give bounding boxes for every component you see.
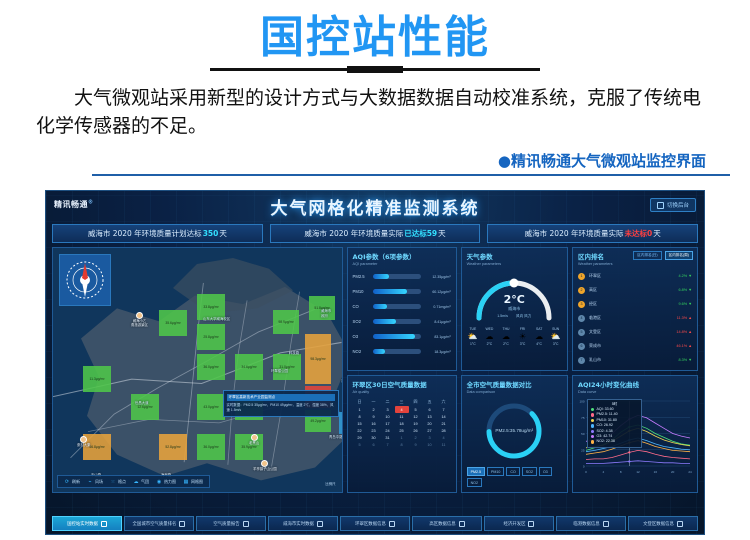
stat-suffix: 天 (219, 228, 227, 239)
ranking-list: 1环翠区4.2% ▼2高区6.8% ▼3经区9.6% ▼4临港区11.3% ▲5… (573, 267, 697, 371)
wind-speed: 1.5m/s (497, 314, 508, 319)
compare-panel-title: 全市空气质量数据对比 (467, 379, 562, 389)
aqi-param-bar (373, 289, 421, 294)
aqi-param-bar (373, 304, 421, 309)
stat-value: 已达标59 (403, 228, 438, 239)
bottom-tab-label: 经济开发区 (504, 521, 526, 527)
calendar-day[interactable]: 13 (423, 413, 437, 420)
calendar-day[interactable]: 4 (437, 434, 451, 441)
map-grid-cell[interactable]: 52.8μg/m³ (159, 434, 187, 460)
switch-backstage-button[interactable]: 切换后台 (650, 198, 696, 212)
aqi-param-bar (373, 319, 421, 324)
svg-text:100: 100 (579, 400, 584, 404)
forecast-temp: 4°C (531, 342, 548, 346)
bottom-tab-label: 临港数据信息 (573, 521, 599, 527)
calendar-weekday: 五 (423, 397, 437, 406)
calendar-weekday: 三 (395, 397, 409, 406)
calendar-day[interactable]: 8 (353, 413, 367, 420)
svg-text:4: 4 (602, 470, 604, 474)
bottom-tab[interactable]: 全国城市空气质量排名 (124, 516, 194, 531)
ranking-position: 8 (578, 371, 585, 372)
map-pin[interactable]: 老黑山 (249, 434, 259, 446)
aqi-param-value: 60.12μg/m³ (424, 290, 451, 294)
bottom-tab-label: 高区数据信息 (429, 521, 455, 527)
map-grid-cell[interactable]: 31.0μg/m³ (273, 354, 301, 380)
stat-suffix: 天 (438, 228, 446, 239)
ranking-position: 7 (578, 357, 585, 364)
tooltip-series-swatch (591, 440, 595, 444)
bottom-tab-label: 全国城市空气质量排名 (133, 521, 177, 527)
aqi-param-value: 8.41μg/m³ (424, 320, 451, 324)
page-lead-paragraph: 大气微观站采用新型的设计方式与大数据数据自动校准系统，克服了传统电化学传感器的不… (36, 85, 714, 140)
aqi-param-value: 0.71mg/m³ (424, 305, 451, 309)
ranking-change: 6.8% ▼ (679, 288, 692, 292)
aqi-parameter-row: PM1060.12μg/m³ (353, 284, 451, 299)
stat-bar-1: 威海市 2020 年环境质量计划达标350天 (52, 224, 263, 243)
ranking-city: 文登区 (589, 329, 676, 335)
forecast-day: WED☁2°C (481, 327, 498, 346)
page-header: 国控站性能 大气微观站采用新型的设计方式与大数据数据自动校准系统，克服了传统电化… (0, 0, 750, 176)
aqi-param-name: CO (353, 304, 373, 309)
map-place-label: 威海市 政府 (321, 308, 331, 318)
pollutant-chip[interactable]: SO2 (522, 467, 537, 476)
chart-title: AQI24小时变化曲线 (578, 379, 692, 389)
refresh-icon: ⟳ (64, 479, 70, 485)
tooltip-rows: AQI: 33.60PM2.5: 11.40PM10: 31.80CO: 26.… (591, 407, 638, 445)
expand-icon (179, 521, 185, 527)
forecast-day: TUE⛅1°C (465, 327, 482, 346)
calendar-day[interactable]: 5 (409, 406, 423, 413)
calendar-day[interactable]: 29 (353, 434, 367, 441)
map-tool-label: 网格图 (191, 479, 203, 485)
bottom-tab[interactable]: 文登区数据信息 (628, 516, 698, 531)
map-pin-label: 老黑山 (249, 442, 259, 446)
aqi-param-name: SO2 (353, 319, 373, 324)
map-place-label: 青岛中路 (329, 434, 343, 439)
caption-underline (92, 174, 730, 176)
aqi-panel-title: AQI参数（6项参数） (353, 251, 451, 261)
calendar-day[interactable]: 26 (409, 427, 423, 434)
backstage-label: 切换后台 (667, 201, 689, 209)
weather-city: 威海市 (462, 306, 567, 312)
map-grid-cell[interactable]: 36.0μg/m³ (197, 434, 225, 460)
page-caption: ●精讯畅通大气微观站监控界面 (0, 150, 706, 171)
aqi-parameter-list: PM2.512.35μg/m³PM1060.12μg/m³CO0.71mg/m³… (348, 267, 456, 359)
bottom-tab[interactable]: 高区数据信息 (412, 516, 482, 531)
expand-icon (317, 521, 323, 527)
aqi-parameter-row: PM2.512.35μg/m³ (353, 269, 451, 284)
aqi-parameter-row: CO0.71mg/m³ (353, 299, 451, 314)
chart-series-SO2 (586, 461, 690, 464)
svg-text:25: 25 (581, 448, 585, 452)
calendar-panel-title: 环翠区30日空气质量数据 (353, 379, 451, 389)
weather-sub-metrics: 1.5m/s 风向 风力 (462, 314, 567, 319)
calendar-weekday: 四 (409, 397, 423, 406)
aqi-param-value: 18.3μg/m³ (424, 350, 451, 354)
bottom-tab[interactable]: 经济开发区 (484, 516, 554, 531)
calendar-day[interactable]: 25 (395, 427, 409, 434)
bottom-tab-label: 空气质量报告 (213, 521, 239, 527)
aqi-param-bar-fill (373, 334, 415, 339)
pollutant-chip-row: PM2.5PM10COSO2O3NO2 (462, 467, 567, 491)
stat-prefix: 威海市 2020 年环境质量计划达标 (88, 228, 202, 239)
weather-panel-subtitle: Weather parameters (467, 262, 562, 266)
cloud-icon: ☁ (498, 331, 515, 342)
tooltip-series-swatch (591, 424, 595, 428)
svg-text:24: 24 (688, 470, 692, 474)
calendar-day[interactable]: 11 (437, 441, 451, 448)
bottom-tab[interactable]: 环翠区数据信息 (340, 516, 410, 531)
svg-text:75: 75 (581, 416, 585, 420)
calendar-week: 567891011 (353, 441, 451, 448)
tooltip-series-value: NO2: 22.38 (596, 439, 614, 444)
map-scale-label: 比例尺 (325, 481, 335, 486)
grid-point-icon: ⁙ (110, 479, 116, 485)
calendar-weekday: 一 (367, 397, 381, 406)
forecast-temp: 1°C (465, 342, 482, 346)
calendar-day[interactable]: 27 (423, 427, 437, 434)
current-temperature: 2°C (462, 293, 567, 306)
map-tool-网格图[interactable]: ▦网格图 (183, 479, 203, 485)
cloud-icon: ☁ (531, 331, 548, 342)
map-grid-cell[interactable]: 12.6μg/m³ (131, 394, 159, 420)
stat-bar-row: 威海市 2020 年环境质量计划达标350天威海市 2020 年环境质量实际已达… (46, 224, 704, 243)
weather-panel-header: 天气参数 Weather parameters (462, 248, 567, 267)
aqi-parameter-row: O383.1μg/m³ (353, 329, 451, 344)
map-tool-气团[interactable]: ☁气团 (133, 479, 149, 485)
map-pin-icon (251, 434, 258, 441)
map-place-label: 科技路 (289, 350, 299, 355)
svg-text:20: 20 (671, 470, 675, 474)
map-pin-icon (80, 436, 87, 443)
expand-icon (101, 521, 107, 527)
map-pin-label: 张村大集 (77, 444, 91, 448)
dashboard-body: 11.3μg/m³35.6μg/m³33.8μg/m³25.8μg/m³36.0… (46, 243, 704, 493)
aqi-param-name: PM2.5 (353, 274, 373, 279)
aqi-column: AQI参数（6项参数） AQI parameter PM2.512.35μg/m… (347, 247, 457, 493)
map-grid-cell[interactable]: 35.6μg/m³ (159, 310, 187, 336)
temperature-gauge: 2°C 威海市 1.5m/s 风向 风力 (462, 267, 567, 325)
wind-direction: 风向 风力 (516, 314, 531, 319)
dashboard-header: 精讯畅通® 大气网格化精准监测系统 切换后台 (46, 191, 704, 221)
calendar-day[interactable]: 7 (437, 406, 451, 413)
ranking-tab[interactable]: 区内排名(日) (633, 251, 661, 260)
calendar-day[interactable]: 20 (423, 420, 437, 427)
map-tool-label: 气团 (141, 479, 149, 485)
aqi-parameter-row: NO218.3μg/m³ (353, 344, 451, 359)
calendar[interactable]: 日一二三四五六123456789101112131415161718192021… (348, 395, 456, 451)
map-toolbar: ⟳刷新⌁风场⁙格点☁气团◉热力图▦网格图 (57, 475, 210, 488)
pollutant-chip[interactable]: NO2 (467, 478, 482, 487)
calendar-week: 891011121314 (353, 413, 451, 420)
map-pin-label: 羊亭镇子山公园 (253, 468, 277, 472)
compare-donut-value: PM2.5:35.78ug/m³ (462, 428, 567, 433)
calendar-day[interactable]: 2 (409, 434, 423, 441)
chart-panel-header: AQI24小时变化曲线 Data curve (573, 376, 697, 395)
wind-icon: ⌁ (87, 479, 93, 485)
map-grid-cell[interactable]: 34.6μg/m³ (235, 354, 263, 380)
calendar-day[interactable]: 11 (395, 413, 409, 420)
calendar-day[interactable]: 14 (437, 413, 451, 420)
stat-prefix: 威海市 2020 年环境质量实际 (525, 228, 624, 239)
calendar-week: 22232425262728 (353, 427, 451, 434)
map-tool-label: 热力图 (164, 479, 176, 485)
map-tool-label: 刷新 (72, 479, 80, 485)
bottom-tab-label: 文登区数据信息 (643, 521, 674, 527)
info-card-body: 实时数据：PM2.5 35μg/m³，PM10 49μg/m³，温度 2℃，湿度… (227, 403, 335, 413)
calendar-weekday: 六 (437, 397, 451, 406)
calendar-day[interactable]: 28 (437, 427, 451, 434)
stat-bar-3: 威海市 2020 年环境质量实际未达标0天 (487, 224, 698, 243)
calendar-day[interactable]: 3 (423, 434, 437, 441)
ranking-position: 4 (578, 315, 585, 322)
map-pin[interactable]: 羊亭镇子山公园 (253, 460, 277, 472)
map-place-label: 海滨路 (341, 378, 343, 383)
map-grid-cell[interactable]: 98.9μg/m³ (273, 310, 299, 334)
expand-icon (389, 521, 395, 527)
forecast-day: SAT☁4°C (531, 327, 548, 346)
calendar-day[interactable]: 10 (381, 413, 395, 420)
ranking-position: 6 (578, 343, 585, 350)
calendar-day[interactable]: 7 (381, 441, 395, 448)
stat-value: 350 (202, 229, 220, 238)
aqi-param-bar (373, 274, 421, 279)
aqi-24h-chart-panel: AQI24小时变化曲线 Data curve 02550751000481216… (572, 375, 698, 493)
calendar-day[interactable]: 6 (423, 406, 437, 413)
map-tool-label: 风场 (95, 479, 103, 485)
calendar-week: 15161718192021 (353, 420, 451, 427)
ranking-position: 5 (578, 329, 585, 336)
ranking-position: 2 (578, 287, 585, 294)
calendar-day[interactable]: 24 (381, 427, 395, 434)
bottom-tab-bar: 国控站实时数据全国城市空气质量排名空气质量报告威海市实时数据环翠区数据信息高区数… (46, 516, 704, 531)
calendar-day[interactable]: 23 (367, 427, 381, 434)
dashboard-screenshot: 精讯畅通® 大气网格化精准监测系统 切换后台 威海市 2020 年环境质量计划达… (45, 190, 705, 535)
weather-panel-title: 天气参数 (467, 251, 562, 261)
calendar-day[interactable]: 6 (367, 441, 381, 448)
ranking-change: 4.2% ▼ (679, 274, 692, 278)
compare-panel-header: 全市空气质量数据对比 Data comparison (462, 376, 567, 395)
aqi-param-bar (373, 349, 421, 354)
grid-monitoring-map[interactable]: 11.3μg/m³35.6μg/m³33.8μg/m³25.8μg/m³36.0… (52, 247, 343, 493)
calendar-day[interactable]: 9 (409, 441, 423, 448)
compare-panel: 全市空气质量数据对比 Data comparison PM2.5:35.78ug… (461, 375, 568, 493)
aqi-parameters-panel: AQI参数（6项参数） AQI parameter PM2.512.35μg/m… (347, 247, 457, 371)
weather-panel: 天气参数 Weather parameters 2°C 威海市 1.5m/s 风… (461, 247, 568, 371)
calendar-panel-subtitle: Air quality (353, 390, 451, 394)
map-tool-刷新[interactable]: ⟳刷新 (64, 479, 80, 485)
ranking-row[interactable]: 8里口山6.9% ▼ (578, 367, 692, 371)
aqi-param-bar-fill (373, 289, 408, 294)
calendar-panel: 环翠区30日空气质量数据 Air quality 日一二三四五六12345678… (347, 375, 457, 493)
aqi-param-bar (373, 334, 421, 339)
forecast-day: SUN⛅3°C (547, 327, 564, 346)
map-pin[interactable]: 威海小乙 角旅游景区 (131, 312, 148, 328)
tooltip-series-swatch (591, 435, 595, 439)
ranking-city: 乳山市 (589, 357, 679, 363)
aqi-param-bar-fill (373, 304, 387, 309)
calendar-day[interactable]: 16 (367, 420, 381, 427)
svg-text:0: 0 (583, 465, 585, 469)
expand-icon (603, 521, 609, 527)
calendar-day[interactable]: 15 (353, 420, 367, 427)
map-pin-label: 威海小乙 角旅游景区 (131, 320, 148, 328)
map-grid-cell[interactable]: 44.1μg/m³ (339, 412, 343, 434)
calendar-day[interactable]: 10 (423, 441, 437, 448)
chart-subtitle: Data curve (578, 390, 692, 394)
ranking-change: 8.3% ▼ (679, 358, 692, 362)
map-tool-热力图[interactable]: ◉热力图 (156, 479, 176, 485)
map-grid-cell[interactable]: 25.8μg/m³ (197, 324, 225, 350)
chart-area[interactable]: 025507510004812162024 5时 AQI: 33.60PM2.5… (573, 395, 697, 480)
cloud-icon: ☁ (133, 479, 139, 485)
pollutant-chip[interactable]: CO (506, 467, 519, 476)
bottom-tab[interactable]: 威海市实时数据 (268, 516, 338, 531)
calendar-week: 2930311234 (353, 434, 451, 441)
stat-value: 未达标0 (624, 228, 654, 239)
page-caption-text: 精讯畅通大气微观站监控界面 (511, 152, 706, 170)
cloud-sun-icon: ⛅ (547, 331, 564, 342)
aqi-param-name: PM10 (353, 289, 373, 294)
calendar-day[interactable]: 17 (381, 420, 395, 427)
calendar-weekday: 日 (353, 397, 367, 406)
ranking-position: 3 (578, 301, 585, 308)
map-grid-cell[interactable]: 98.3μg/m³ (305, 334, 331, 384)
aqi-param-value: 12.35μg/m³ (424, 275, 451, 279)
calendar-panel-header: 环翠区30日空气质量数据 Air quality (348, 376, 456, 395)
calendar-day[interactable]: 1 (395, 434, 409, 441)
map-place-label: 山东大学威海校区 (203, 316, 230, 321)
dashboard-title: 大气网格化精准监测系统 (46, 194, 704, 219)
calendar-day[interactable]: 21 (437, 420, 451, 427)
calendar-day[interactable]: 2 (367, 406, 381, 413)
map-column: 11.3μg/m³35.6μg/m³33.8μg/m³25.8μg/m³36.0… (52, 247, 343, 493)
bullet-icon: ● (498, 152, 511, 170)
calendar-day[interactable]: 30 (367, 434, 381, 441)
expand-icon (677, 521, 683, 527)
tooltip-series-swatch (591, 419, 595, 423)
calendar-day[interactable]: 22 (353, 427, 367, 434)
calendar-day[interactable]: 19 (409, 420, 423, 427)
tooltip-series-swatch (591, 430, 595, 434)
ranking-row[interactable]: 7乳山市8.3% ▼ (578, 353, 692, 367)
bottom-tab-label: 环翠区数据信息 (355, 521, 386, 527)
tooltip-series-swatch (591, 408, 595, 412)
calendar-day[interactable]: 1 (353, 406, 367, 413)
bottom-tab-label: 威海市实时数据 (283, 521, 314, 527)
pollutant-chip[interactable]: PM2.5 (467, 467, 485, 476)
ranking-city: 环翠区 (589, 273, 679, 279)
ranking-position: 1 (578, 273, 585, 280)
map-pin-icon (261, 460, 268, 467)
ranking-row[interactable]: 5文登区14.8% ▲ (578, 325, 692, 339)
sun-icon: ☀ (514, 331, 531, 342)
right-column: 区内排名 Weather parameters 区内排名(日)区内排名(周) 1… (572, 247, 698, 493)
forecast-day: FRI☀3°C (514, 327, 531, 346)
forecast-day: THU☁2°C (498, 327, 515, 346)
ranking-row[interactable]: 6荣成市46.1% ▲ (578, 339, 692, 353)
expand-icon (243, 521, 249, 527)
calendar-day[interactable]: 18 (395, 420, 409, 427)
ranking-change: 9.6% ▼ (679, 302, 692, 306)
aqi-parameter-row: SO28.41μg/m³ (353, 314, 451, 329)
tooltip-row: NO2: 22.38 (591, 439, 638, 444)
aqi-param-name: NO2 (353, 349, 373, 354)
map-place-label: 世昌大道 (135, 400, 149, 405)
ranking-city: 荣成市 (589, 343, 676, 349)
map-pin[interactable]: 张村大集 (77, 436, 91, 448)
aqi-param-value: 83.1μg/m³ (424, 335, 451, 339)
expand-icon (459, 521, 465, 527)
calendar-day[interactable]: 12 (409, 413, 423, 420)
map-grid-cell[interactable]: 11.3μg/m³ (83, 366, 111, 392)
map-grid-cell[interactable]: 43.0μg/m³ (197, 394, 225, 420)
ranking-tab[interactable]: 区内排名(周) (665, 251, 693, 260)
bottom-tab[interactable]: 空气质量报告 (196, 516, 266, 531)
ranking-change: 11.3% ▲ (677, 316, 692, 320)
calendar-weekday: 二 (381, 397, 395, 406)
calendar-day[interactable]: 8 (395, 441, 409, 448)
stat-suffix: 天 (653, 228, 661, 239)
calendar-week: 1234567 (353, 406, 451, 413)
stat-prefix: 威海市 2020 年环境质量实际 (304, 228, 403, 239)
bottom-tab[interactable]: 临港数据信息 (556, 516, 626, 531)
ranking-panel-subtitle: Weather parameters (578, 262, 692, 266)
calendar-day[interactable]: 9 (367, 413, 381, 420)
map-grid-cell[interactable]: 36.0μg/m³ (197, 354, 225, 380)
tooltip-series-swatch (591, 413, 595, 417)
calendar-day[interactable]: 4 (395, 406, 409, 413)
calendar-day[interactable]: 31 (381, 434, 395, 441)
svg-text:0: 0 (585, 470, 587, 474)
calendar-day[interactable]: 3 (381, 406, 395, 413)
compare-panel-subtitle: Data comparison (467, 390, 562, 394)
pollutant-chip[interactable]: O3 (539, 467, 552, 476)
expand-icon (528, 521, 534, 527)
pollutant-chip[interactable]: PM10 (487, 467, 504, 476)
svg-text:50: 50 (581, 432, 585, 436)
calendar-day[interactable]: 5 (353, 441, 367, 448)
aqi-panel-header: AQI参数（6项参数） AQI parameter (348, 248, 456, 267)
forecast-temp: 2°C (481, 342, 498, 346)
bottom-tab-label: 国控站实时数据 (67, 521, 98, 527)
forecast-temp: 3°C (547, 342, 564, 346)
cloud-sun-icon: ⛅ (465, 331, 482, 342)
map-pin-icon (136, 312, 143, 319)
chart-tooltip: 5时 AQI: 33.60PM2.5: 11.40PM10: 31.80CO: … (587, 399, 642, 448)
svg-text:8: 8 (620, 470, 622, 474)
map-tool-风场[interactable]: ⌁风场 (87, 479, 103, 485)
ranking-city: 临港区 (589, 315, 677, 321)
ranking-city: 经区 (589, 301, 679, 307)
ranking-change: 14.8% ▲ (676, 330, 692, 334)
bottom-tab[interactable]: 国控站实时数据 (52, 516, 122, 531)
ranking-row[interactable]: 4临港区11.3% ▲ (578, 311, 692, 325)
weekly-forecast: TUE⛅1°CWED☁2°CTHU☁2°CFRI☀3°CSAT☁4°CSUN⛅3… (462, 325, 567, 350)
ranking-row[interactable]: 2高区6.8% ▼ (578, 283, 692, 297)
ranking-row[interactable]: 3经区9.6% ▼ (578, 297, 692, 311)
ranking-row[interactable]: 1环翠区4.2% ▼ (578, 269, 692, 283)
aqi-param-bar-fill (373, 319, 396, 324)
map-tool-格点[interactable]: ⁙格点 (110, 479, 126, 485)
heatmap-icon: ◉ (156, 479, 162, 485)
ranking-panel: 区内排名 Weather parameters 区内排名(日)区内排名(周) 1… (572, 247, 698, 371)
aqi-panel-subtitle: AQI parameter (353, 262, 451, 266)
cloud-icon: ☁ (481, 331, 498, 342)
info-card-header: 环翠区高新技术产业园监测点 (227, 394, 335, 401)
compare-donut-chart: PM2.5:35.78ug/m³ (462, 395, 567, 467)
page-title: 国控站性能 (0, 14, 750, 62)
